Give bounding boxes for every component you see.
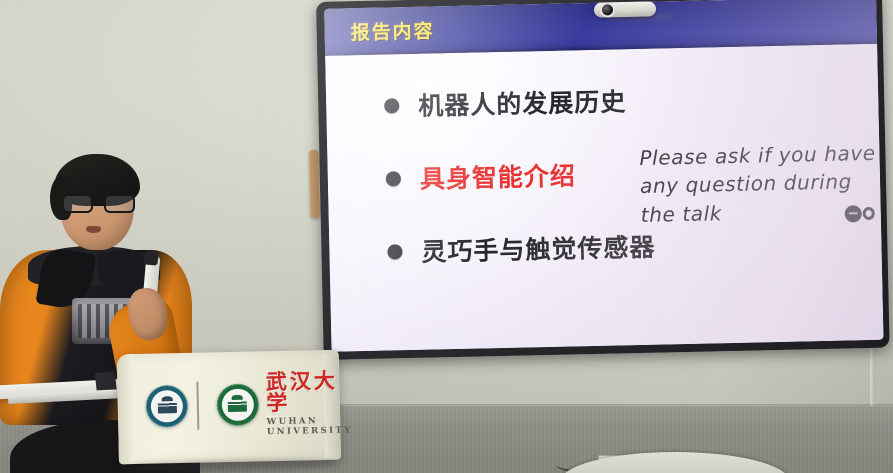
university-name-block: 武汉大学 WUHAN UNIVERSITY xyxy=(266,369,353,437)
logo-divider xyxy=(196,382,199,430)
ceiling-camera xyxy=(594,1,656,17)
presentation-photo-scene: 报告内容 机器人的发展历史 具身智能介绍 灵巧手与 xyxy=(0,0,893,473)
lectern-podium: 武汉大学 WUHAN UNIVERSITY xyxy=(117,350,341,473)
wall-display[interactable]: 报告内容 机器人的发展历史 具身智能介绍 灵巧手与 xyxy=(316,0,890,360)
university-name-cn: 武汉大学 xyxy=(266,369,353,413)
glasses-icon xyxy=(60,194,140,213)
display-screen[interactable]: 报告内容 机器人的发展历史 具身智能介绍 灵巧手与 xyxy=(324,0,883,352)
screen-glare-overlay xyxy=(324,0,883,352)
podium-left-edge xyxy=(117,354,135,464)
presenter-mouth xyxy=(86,226,101,233)
seal-teal-icon xyxy=(145,385,188,428)
camera-lens-icon xyxy=(602,4,613,15)
slide-canvas: 报告内容 机器人的发展历史 具身智能介绍 灵巧手与 xyxy=(324,0,883,352)
university-name-en: WUHAN UNIVERSITY xyxy=(267,415,353,437)
seal-green-icon xyxy=(216,383,259,426)
display-bezel: 报告内容 机器人的发展历史 具身智能介绍 灵巧手与 xyxy=(316,0,890,360)
university-logo-group: 武汉大学 WUHAN UNIVERSITY xyxy=(145,372,332,438)
microphone-head-icon xyxy=(143,250,158,265)
display-side-bracket xyxy=(309,150,319,218)
